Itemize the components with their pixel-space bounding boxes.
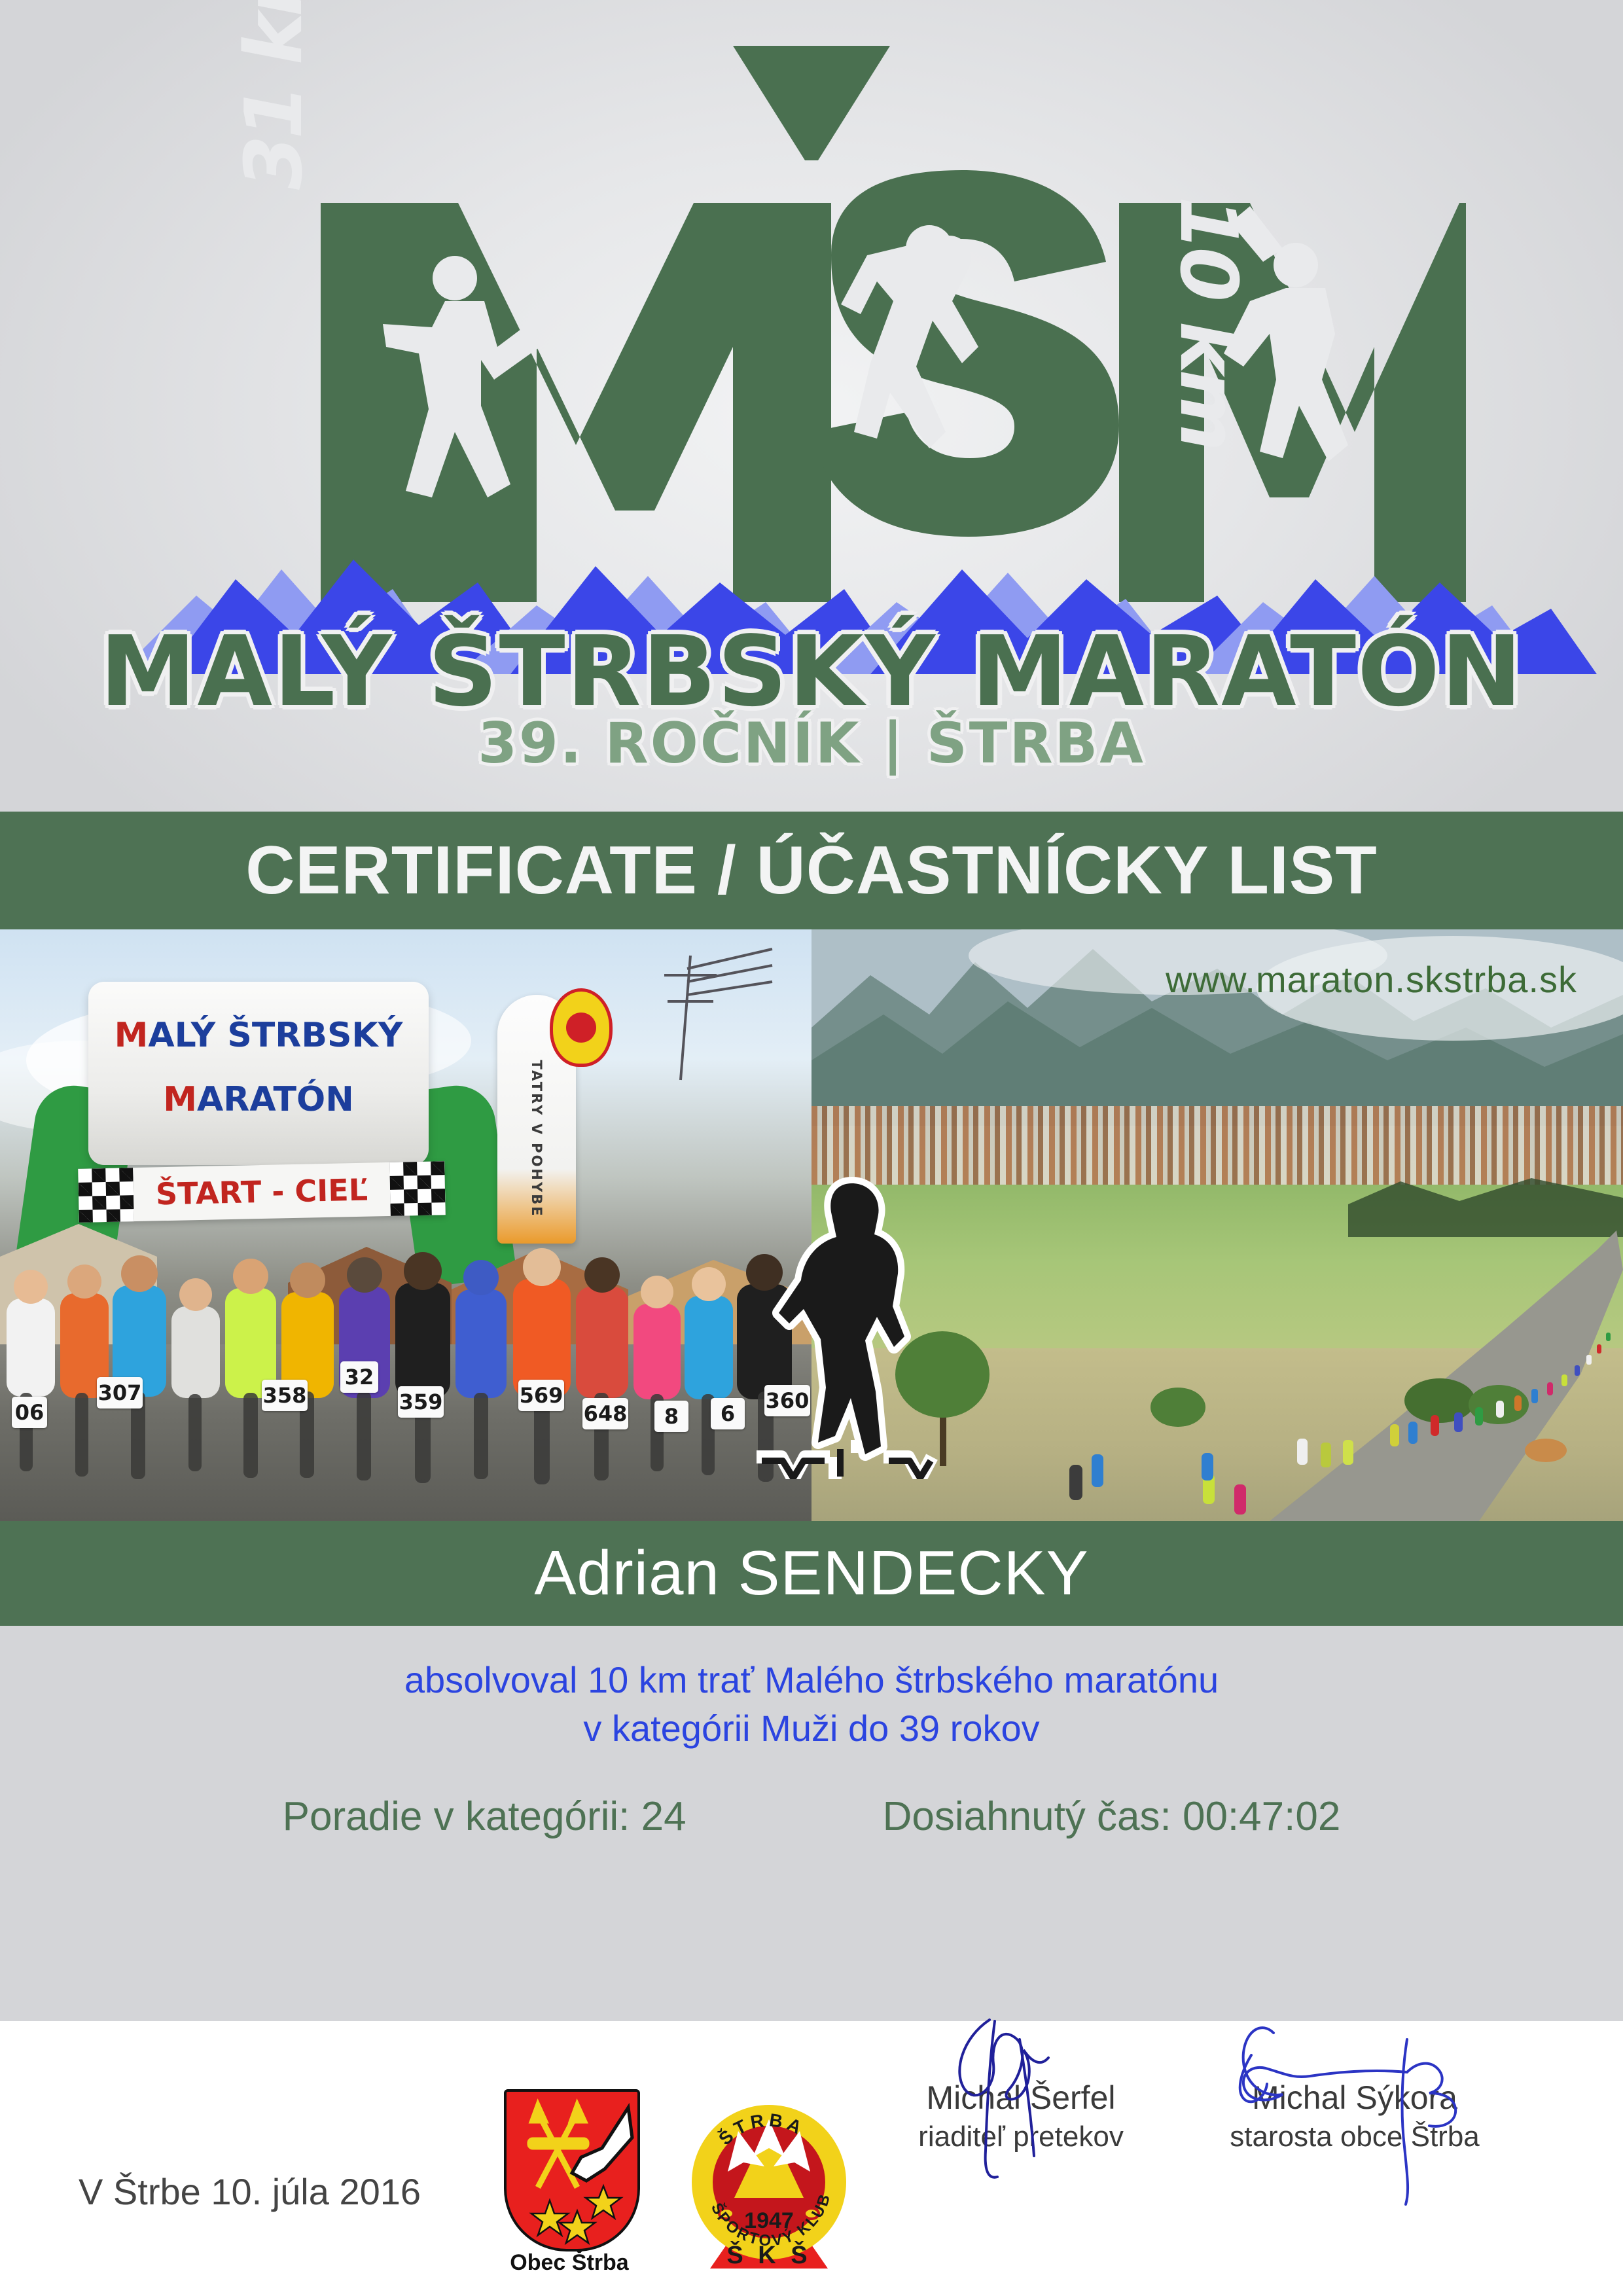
- runner-bib: 32: [340, 1361, 378, 1393]
- runner-bib: 358: [262, 1380, 308, 1411]
- sks-strba-logo: 1947 ŠTRBA ŠPORTOVÝ KLUB Š K Š: [687, 2085, 851, 2282]
- obec-strba-crest: Obec Štrba: [504, 2089, 635, 2272]
- signature-mark-director: [916, 2016, 1126, 2206]
- sks-bottom-text: Š K Š: [726, 2240, 811, 2269]
- signature-block-director: Michal Šerfel riaditeľ pretekov: [870, 2079, 1171, 2153]
- start-line-photo: MALÝ ŠTRBSKÝ MARATÓN ŠTART - CIEĽ TATRY …: [0, 929, 811, 1521]
- arch-text-line2: MARATÓN: [88, 1080, 429, 1119]
- runner-bib: 6: [711, 1398, 745, 1429]
- arch-text-line1: MALÝ ŠTRBSKÝ: [88, 1016, 429, 1055]
- category-rank-value: 24: [641, 1794, 687, 1839]
- results-row: Poradie v kategórii: 24 Dosiahnutý čas: …: [0, 1793, 1623, 1840]
- event-subtitle: 39. ROČNÍK | ŠTRBA: [0, 711, 1623, 776]
- certificate-heading-band: CERTIFICATE / ÚČASTNÍCKY LIST: [0, 812, 1623, 929]
- category-rank-label: Poradie v kategórii:: [283, 1794, 630, 1839]
- msm-cutout-emblem: [753, 1172, 942, 1479]
- arch-text-line1-red: M: [115, 1016, 149, 1055]
- arch-text-line2-rest: ARATÓN: [197, 1080, 354, 1119]
- signature-mark-mayor: [1211, 2016, 1499, 2212]
- description-line-2: v kategórii Muži do 39 rokov: [0, 1704, 1623, 1753]
- runner-bib: 307: [97, 1377, 143, 1408]
- obec-crest-label: Obec Štrba: [497, 2250, 641, 2276]
- certificate-page: 31 km 10 km MALÝ ŠTRBSKÝ MARATÓN 39. ROČ…: [0, 0, 1623, 2296]
- participant-name: Adrian SENDECKY: [0, 1521, 1623, 1626]
- description-line-1: absolvoval 10 km trať Malého štrbského m…: [0, 1656, 1623, 1704]
- runner-bib: 569: [518, 1380, 564, 1411]
- category-rank: Poradie v kategórii: 24: [283, 1793, 687, 1840]
- inflatable-start-arch: MALÝ ŠTRBSKÝ MARATÓN ŠTART - CIEĽ: [26, 969, 484, 1244]
- finish-time-label: Dosiahnutý čas:: [883, 1794, 1171, 1839]
- runner-bib: 8: [654, 1401, 688, 1432]
- certificate-heading: CERTIFICATE / ÚČASTNÍCKY LIST: [0, 812, 1623, 929]
- runner-bib: 06: [12, 1397, 47, 1428]
- participant-name-band: Adrian SENDECKY: [0, 1521, 1623, 1626]
- signature-block-mayor: Michal Sýkora starosta obce Štrba: [1204, 2079, 1505, 2153]
- checkered-right-icon: [389, 1161, 446, 1216]
- msm-wordmark: [157, 39, 1466, 602]
- website-url: www.maraton.skstrba.sk: [1166, 958, 1577, 1001]
- issue-date: V Štrbe 10. júla 2016: [79, 2170, 421, 2213]
- photo-strip: MALÝ ŠTRBSKÝ MARATÓN ŠTART - CIEĽ TATRY …: [0, 929, 1623, 1521]
- runner-bib: 359: [398, 1386, 444, 1418]
- finish-time: Dosiahnutý čas: 00:47:02: [883, 1793, 1341, 1840]
- sks-crest-small-icon: [550, 988, 613, 1067]
- arch-banner-top: MALÝ ŠTRBSKÝ MARATÓN: [88, 982, 429, 1165]
- finish-time-value: 00:47:02: [1183, 1794, 1340, 1839]
- arch-text-line1-rest: ALÝ ŠTRBSKÝ: [148, 1016, 402, 1055]
- logo-distance-right: 10 km: [1162, 196, 1253, 448]
- logo-distance-left: 31 km: [229, 0, 320, 190]
- logo-zone: 31 km 10 km MALÝ ŠTRBSKÝ MARATÓN 39. ROČ…: [0, 0, 1623, 812]
- flag-text: TATRY V POHYBE: [529, 1060, 544, 1218]
- arch-text-line2-red: M: [163, 1080, 197, 1119]
- footer: V Štrbe 10. júla 2016 Ob: [0, 2016, 1623, 2296]
- achievement-description: absolvoval 10 km trať Malého štrbského m…: [0, 1656, 1623, 1753]
- runner-bib: 648: [582, 1398, 628, 1429]
